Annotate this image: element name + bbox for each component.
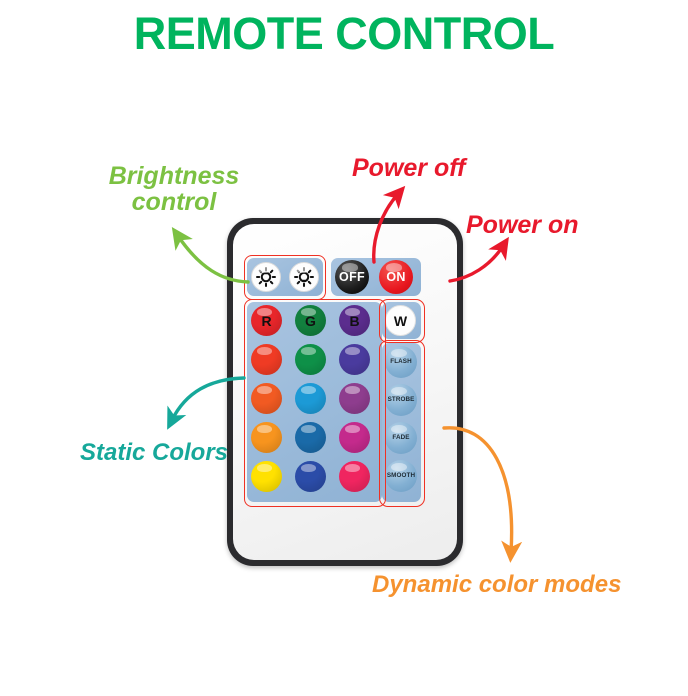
color-button-green[interactable]: G (295, 305, 326, 336)
label-static-colors: Static Colors (80, 440, 228, 465)
color-button-white[interactable]: W (385, 305, 416, 336)
mode-button-fade[interactable]: FADE (385, 422, 417, 454)
brightness-down-button[interactable] (251, 262, 281, 292)
label-power-off: Power off (352, 155, 465, 181)
remote-control-device: OFF ON R G B W FLASH STROBE FADE SMOOTH (227, 218, 463, 566)
mode-button-smooth[interactable]: SMOOTH (385, 460, 417, 492)
color-button-r2c2[interactable] (295, 344, 326, 375)
sun-bright-icon (293, 266, 315, 288)
color-button-r3c3[interactable] (339, 383, 370, 414)
color-button-r3c2[interactable] (295, 383, 326, 414)
mode-button-flash[interactable]: FLASH (385, 346, 417, 378)
sun-dim-icon (255, 266, 277, 288)
brightness-up-button[interactable] (289, 262, 319, 292)
mode-button-strobe[interactable]: STROBE (385, 384, 417, 416)
label-dynamic-color-modes: Dynamic color modes (372, 572, 621, 597)
page-title: REMOTE CONTROL (0, 8, 688, 60)
color-button-r4c2[interactable] (295, 422, 326, 453)
color-button-r3c1[interactable] (251, 383, 282, 414)
color-button-r4c3[interactable] (339, 422, 370, 453)
color-button-r2c3[interactable] (339, 344, 370, 375)
color-button-blue[interactable]: B (339, 305, 370, 336)
color-button-red[interactable]: R (251, 305, 282, 336)
label-brightness-control: Brightness control (94, 163, 254, 216)
power-on-button[interactable]: ON (379, 260, 413, 294)
power-off-button[interactable]: OFF (335, 260, 369, 294)
color-button-r2c1[interactable] (251, 344, 282, 375)
color-button-r5c3[interactable] (339, 461, 370, 492)
color-button-r4c1[interactable] (251, 422, 282, 453)
label-power-on: Power on (466, 212, 579, 238)
color-button-r5c2[interactable] (295, 461, 326, 492)
color-button-r5c1[interactable] (251, 461, 282, 492)
